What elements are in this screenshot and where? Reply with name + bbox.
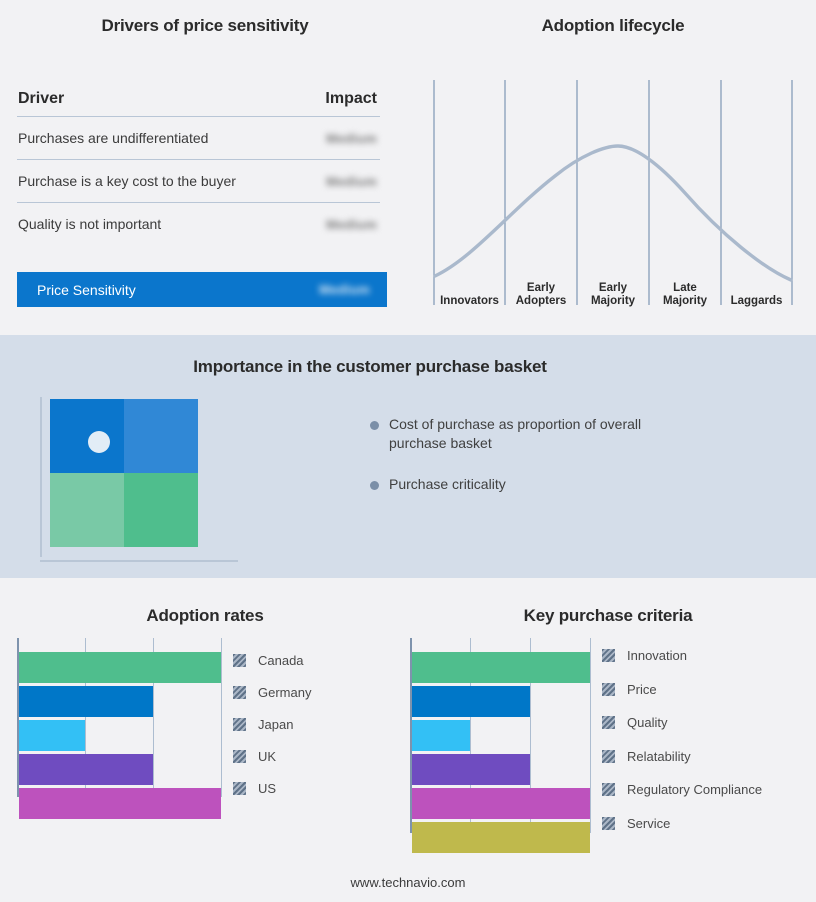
bar-us <box>19 788 221 819</box>
legend-label: Japan <box>258 717 293 732</box>
drivers-panel-title: Drivers of price sensitivity <box>0 16 410 36</box>
hatched-swatch-icon <box>602 649 615 662</box>
quadrant-y-axis <box>40 397 42 557</box>
legend-label: Regulatory Compliance <box>627 782 762 797</box>
key-purchase-criteria-legend: Innovation Price Quality Relatability Re… <box>602 639 762 840</box>
legend-label: Canada <box>258 653 304 668</box>
bar-service <box>412 822 590 853</box>
legend-item: Germany <box>233 676 311 708</box>
legend-label: Cost of purchase as proportion of overal… <box>389 415 661 453</box>
segment-label-early-adopters: Early Adopters <box>505 282 577 308</box>
key-purchase-criteria-bar-chart <box>410 638 592 833</box>
chart-gridline <box>590 638 591 833</box>
lifecycle-bell-curve <box>435 146 791 280</box>
legend-item: Innovation <box>602 639 762 673</box>
table-row: Purchases are undifferentiated Medium <box>17 117 380 160</box>
legend-label: Innovation <box>627 648 687 663</box>
hatched-swatch-icon <box>233 718 246 731</box>
column-header-driver: Driver <box>18 90 64 108</box>
legend-label: US <box>258 781 276 796</box>
segment-label-laggards: Laggards <box>721 295 792 308</box>
legend-item: Service <box>602 807 762 841</box>
legend-item: Price <box>602 673 762 707</box>
quadrant-position-marker <box>88 431 110 453</box>
hatched-swatch-icon <box>233 782 246 795</box>
impact-value-redacted: Medium <box>326 217 377 232</box>
driver-label: Quality is not important <box>18 216 161 232</box>
quadrant-cell-top-right <box>124 399 198 473</box>
table-row: Quality is not important Medium <box>17 203 380 245</box>
hatched-swatch-icon <box>602 716 615 729</box>
impact-value-redacted: Medium <box>326 174 377 189</box>
price-sensitivity-highlight-row: Price Sensitivity Medium <box>17 272 387 307</box>
adoption-rates-legend: Canada Germany Japan UK US <box>233 644 311 804</box>
legend-item: Cost of purchase as proportion of overal… <box>370 415 750 453</box>
driver-label: Purchases are undifferentiated <box>18 130 208 146</box>
legend-label: Quality <box>627 715 667 730</box>
segment-label-late-majority: Late Majority <box>649 282 721 308</box>
segment-label-early-majority: Early Majority <box>577 282 649 308</box>
legend-item: Japan <box>233 708 311 740</box>
quadrant-cell-bottom-left <box>50 473 124 547</box>
hatched-swatch-icon <box>602 683 615 696</box>
lifecycle-gridlines <box>434 80 792 305</box>
impact-value-redacted: Medium <box>319 282 370 297</box>
key-purchase-criteria-panel: Key purchase criteria Innovation Price <box>400 578 816 902</box>
basket-legend: Cost of purchase as proportion of overal… <box>370 415 750 516</box>
drivers-panel: Drivers of price sensitivity Driver Impa… <box>0 0 410 335</box>
legend-label: Relatability <box>627 749 691 764</box>
price-sensitivity-label: Price Sensitivity <box>37 282 136 298</box>
legend-item: Purchase criticality <box>370 475 750 494</box>
hatched-swatch-icon <box>233 750 246 763</box>
legend-item: Relatability <box>602 740 762 774</box>
quadrant-grid <box>50 399 198 547</box>
legend-item: Canada <box>233 644 311 676</box>
bottom-section: Adoption rates Canada Germany Jap <box>0 578 816 902</box>
footer-url: www.technavio.com <box>0 875 816 890</box>
top-section: Drivers of price sensitivity Driver Impa… <box>0 0 816 335</box>
adoption-rates-bar-chart <box>17 638 223 797</box>
legend-label: Purchase criticality <box>389 475 506 494</box>
basket-panel-title: Importance in the customer purchase bask… <box>0 357 740 377</box>
legend-label: Germany <box>258 685 311 700</box>
bullet-dot-icon <box>370 481 379 490</box>
quadrant-cell-bottom-right <box>124 473 198 547</box>
legend-item: US <box>233 772 311 804</box>
segment-label-innovators: Innovators <box>434 295 505 308</box>
table-row: Purchase is a key cost to the buyer Medi… <box>17 160 380 203</box>
bar-uk <box>19 754 153 785</box>
impact-value-redacted: Medium <box>326 131 377 146</box>
hatched-swatch-icon <box>602 750 615 763</box>
chart-gridline <box>221 638 222 797</box>
legend-label: UK <box>258 749 276 764</box>
drivers-table-header: Driver Impact <box>17 90 380 117</box>
driver-label: Purchase is a key cost to the buyer <box>18 173 236 189</box>
bar-japan <box>19 720 85 751</box>
legend-item: UK <box>233 740 311 772</box>
quadrant-x-axis <box>40 560 238 562</box>
adoption-rates-panel: Adoption rates Canada Germany Jap <box>0 578 410 902</box>
quadrant-cell-top-left <box>50 399 124 473</box>
legend-item: Quality <box>602 706 762 740</box>
purchase-basket-quadrant-chart <box>40 397 240 562</box>
bullet-dot-icon <box>370 421 379 430</box>
hatched-swatch-icon <box>233 654 246 667</box>
bar-relatability <box>412 754 530 785</box>
legend-item: Regulatory Compliance <box>602 773 762 807</box>
column-header-impact: Impact <box>325 90 377 108</box>
hatched-swatch-icon <box>602 783 615 796</box>
bar-germany <box>19 686 153 717</box>
bar-regulatory-compliance <box>412 788 590 819</box>
lifecycle-panel: Adoption lifecycle Innovators Early <box>410 0 816 335</box>
bar-canada <box>19 652 221 683</box>
bar-innovation <box>412 652 590 683</box>
hatched-swatch-icon <box>602 817 615 830</box>
bar-quality <box>412 720 470 751</box>
lifecycle-curve-svg <box>433 80 793 312</box>
lifecycle-panel-title: Adoption lifecycle <box>410 16 816 36</box>
legend-label: Service <box>627 816 670 831</box>
hatched-swatch-icon <box>233 686 246 699</box>
bar-price <box>412 686 530 717</box>
key-purchase-criteria-title: Key purchase criteria <box>400 606 816 626</box>
adoption-lifecycle-chart: Innovators Early Adopters Early Majority… <box>433 80 793 312</box>
legend-label: Price <box>627 682 657 697</box>
drivers-table: Driver Impact Purchases are undifferenti… <box>17 90 380 245</box>
adoption-rates-title: Adoption rates <box>0 606 410 626</box>
purchase-basket-section: Importance in the customer purchase bask… <box>0 335 816 578</box>
